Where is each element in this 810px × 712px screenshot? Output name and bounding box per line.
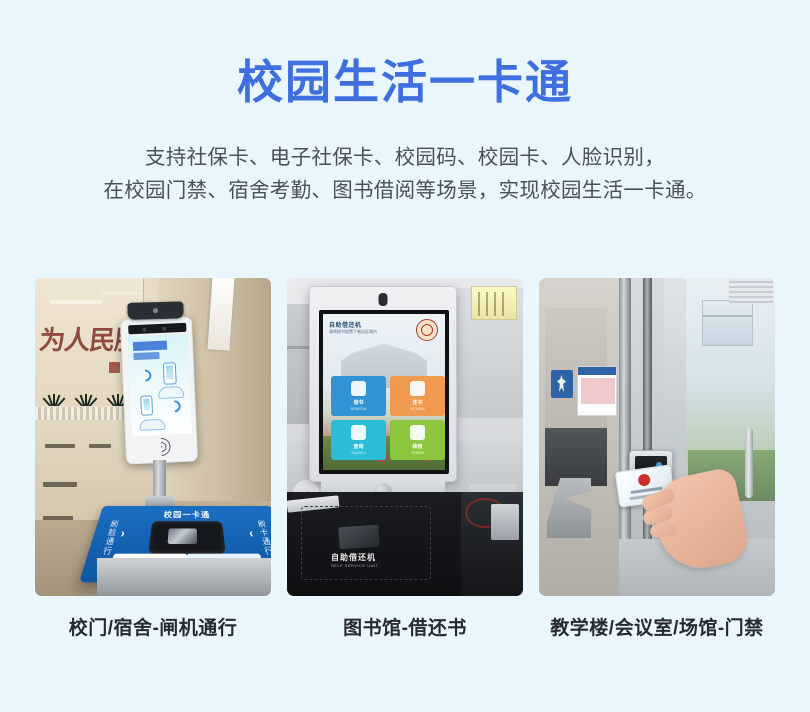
hand-illustration-1	[158, 386, 184, 399]
tile-return-label: 还书	[412, 399, 422, 406]
dark-glass-partition	[545, 428, 607, 486]
caption-gate: 校门/宿舍-闸机通行	[35, 613, 271, 640]
book-on-pad	[338, 525, 379, 550]
photo-gate-turnstile: 为人民服务	[35, 278, 271, 596]
wall-poster	[471, 286, 517, 320]
library-seal-icon	[416, 319, 438, 341]
tile-borrow-sub: BORROW	[351, 407, 367, 411]
page-title: 校园生活一卡通	[0, 56, 810, 109]
camera-module-icon	[127, 301, 183, 319]
ceiling-light-icon-2	[101, 292, 141, 295]
exterior-building	[702, 300, 753, 346]
tile-renew[interactable]: 续借 RENEW	[390, 420, 445, 460]
kiosk-camera-icon	[379, 293, 388, 306]
screen-tile-grid: 借书 BORROW 还书 RETURN 查询	[331, 376, 445, 460]
subtitle-line-1: 支持社保卡、电子社保卡、校园码、校园卡、人脸识别，	[0, 141, 810, 174]
tile-return-sub: RETURN	[410, 407, 424, 411]
calligraphy-seal-icon	[109, 362, 120, 373]
borrow-icon	[351, 381, 366, 396]
screen-subheader: 请将图书放置于感应区域内	[329, 329, 377, 335]
scenario-card-library: ‹ 自助借还机 请将图书放置于感应区域内	[287, 278, 523, 640]
return-icon	[410, 381, 425, 396]
renew-icon	[410, 425, 425, 440]
kiosk-screen: 自助借还机 请将图书放置于感应区域内 借书 BORROW	[319, 310, 449, 474]
deck-side-module	[461, 492, 523, 596]
phone-illustration-1	[163, 362, 177, 385]
terminal-screen	[128, 334, 192, 437]
terminal-sensor-bar	[128, 323, 186, 335]
screen-header: 自助借还机	[329, 320, 362, 329]
phone-illustration-2	[140, 395, 153, 416]
gate-right-arrow-icon: ‹	[248, 527, 255, 540]
terminal-screen-title-bar	[133, 341, 167, 351]
search-icon	[351, 425, 366, 440]
photo-library-kiosk: ‹ 自助借还机 请将图书放置于感应区域内	[287, 278, 523, 596]
subtitle-line-2: 在校园门禁、宿舍考勤、图书借阅等场景，实现校园生活一卡通。	[0, 174, 810, 207]
nfc-reader-icon	[152, 438, 171, 457]
card-emblem-icon	[637, 473, 651, 487]
tile-renew-label: 续借	[412, 443, 422, 450]
page-root: 校园生活一卡通 支持社保卡、电子社保卡、校园码、校园卡、人脸识别， 在校园门禁、…	[0, 0, 810, 712]
wall-sign-icon	[551, 370, 573, 398]
tile-search-sub: SEARCH	[351, 451, 365, 455]
nfc-wave-icon-2	[166, 398, 183, 415]
header: 校园生活一卡通 支持社保卡、电子社保卡、校园码、校园卡、人脸识别， 在校园门禁、…	[0, 0, 810, 207]
deck-label: 自助借还机	[331, 552, 376, 563]
caption-library: 图书馆-借还书	[287, 613, 523, 640]
gate-left-label: 刷脸通行	[99, 520, 120, 556]
ceiling-light-icon	[49, 300, 103, 304]
notice-header-bar	[578, 367, 616, 375]
scenario-card-door-access: 教学楼/会议室/场馆-门禁	[539, 278, 775, 640]
hanging-paper	[207, 278, 234, 351]
self-service-kiosk: 自助借还机 请将图书放置于感应区域内 借书 BORROW	[309, 286, 457, 482]
book-placement-deck: 自助借还机 SELF SERVICE UNIT	[287, 492, 523, 596]
tile-borrow[interactable]: 借书 BORROW	[331, 376, 386, 416]
caption-door-access: 教学楼/会议室/场馆-门禁	[539, 613, 775, 640]
tile-return[interactable]: 还书 RETURN	[390, 376, 445, 416]
scenario-card-list: 为人民服务	[35, 278, 775, 640]
face-recognition-terminal	[120, 316, 198, 464]
page-subtitle: 支持社保卡、电子社保卡、校园码、校园卡、人脸识别， 在校园门禁、宿舍考勤、图书借…	[0, 141, 810, 207]
nfc-wave-icon-1	[137, 367, 154, 384]
tile-search[interactable]: 查询 SEARCH	[331, 420, 386, 460]
photo-door-access	[539, 278, 775, 596]
gate-left-arrow-icon: ›	[119, 527, 126, 540]
notice-board	[577, 366, 617, 416]
gate-right-label: 刷卡通行	[254, 520, 271, 556]
finger-3	[649, 522, 677, 538]
scenario-card-gate: 为人民服务	[35, 278, 271, 640]
hand-illustration-2	[139, 419, 165, 431]
tile-search-label: 查询	[353, 443, 363, 450]
side-screen	[491, 504, 519, 540]
tile-borrow-label: 借书	[353, 399, 363, 406]
terminal-screen-subtitle-bar	[133, 352, 159, 360]
door-handle[interactable]	[745, 428, 753, 498]
gate-logo-label: 校园一卡通	[163, 510, 210, 521]
gate-qr-scanner	[148, 521, 226, 553]
notice-content	[581, 378, 615, 404]
ceiling-blinds	[729, 278, 773, 304]
deck-sublabel: SELF SERVICE UNIT	[331, 563, 379, 568]
tile-renew-sub: RENEW	[411, 451, 424, 455]
turnstile-body	[97, 558, 271, 596]
